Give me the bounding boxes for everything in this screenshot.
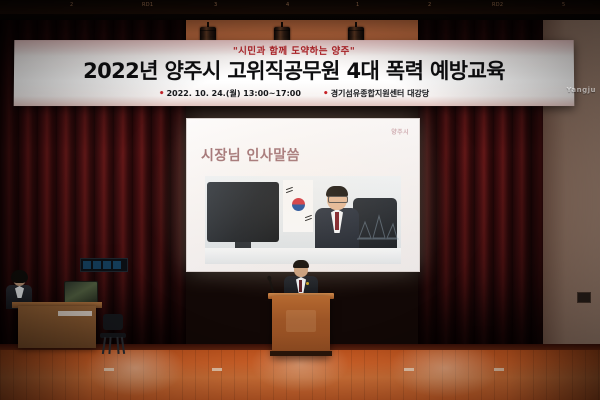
truss-label: 3	[214, 2, 217, 8]
banner-meta: •2022. 10. 24.(월) 13:00~17:00•경기섬유종합지원센터…	[14, 88, 575, 99]
stage-floor	[0, 350, 600, 400]
floor-marker	[404, 368, 414, 371]
podium	[272, 296, 330, 356]
truss-label: RD1	[142, 2, 153, 8]
photo-monitor	[207, 182, 279, 242]
wall-display-panel	[80, 258, 128, 272]
event-banner: "시민과 함께 도약하는 양주" 2022년 양주시 고위직공무원 4대 폭력 …	[14, 40, 575, 106]
truss-label: 1	[356, 2, 359, 8]
truss-label: 4	[286, 2, 289, 8]
bullet-icon: •	[159, 89, 165, 99]
folding-chair	[100, 314, 126, 354]
venue-watermark: Yangju	[566, 86, 596, 94]
slide-photo	[205, 176, 401, 264]
lapel-badge-icon	[306, 282, 309, 285]
truss-label: 5	[562, 2, 565, 8]
truss-label: 2	[70, 2, 73, 8]
truss-label: 2	[428, 2, 431, 8]
banner-location: 경기섬유종합지원센터 대강당	[331, 89, 430, 98]
projection-screen: 양주시 시장님 인사말씀	[186, 118, 420, 272]
podium-emblem-icon	[286, 310, 316, 332]
slide-title: 시장님 인사말씀	[201, 145, 300, 165]
yangju-logo-icon: 양주시	[391, 127, 409, 136]
bullet-icon: •	[323, 89, 329, 99]
banner-date: 2022. 10. 24.(월) 13:00~17:00	[166, 89, 300, 98]
keyboard-icon	[58, 311, 92, 316]
conference-hall-photo: 2 RD1 3 4 1 2 RD2 5 "시민과 함께 도약하는 양주" 202…	[0, 0, 600, 400]
wall-outlet	[577, 292, 591, 303]
truss-label: RD2	[492, 2, 503, 8]
floor-marker	[104, 368, 114, 371]
floor-marker	[494, 368, 504, 371]
banner-title: 2022년 양주시 고위직공무원 4대 폭력 예방교육	[14, 55, 574, 85]
floor-marker	[212, 368, 222, 371]
korean-flag-icon	[283, 180, 313, 232]
podium-base	[270, 351, 332, 356]
city-sketch-icon	[357, 198, 399, 242]
